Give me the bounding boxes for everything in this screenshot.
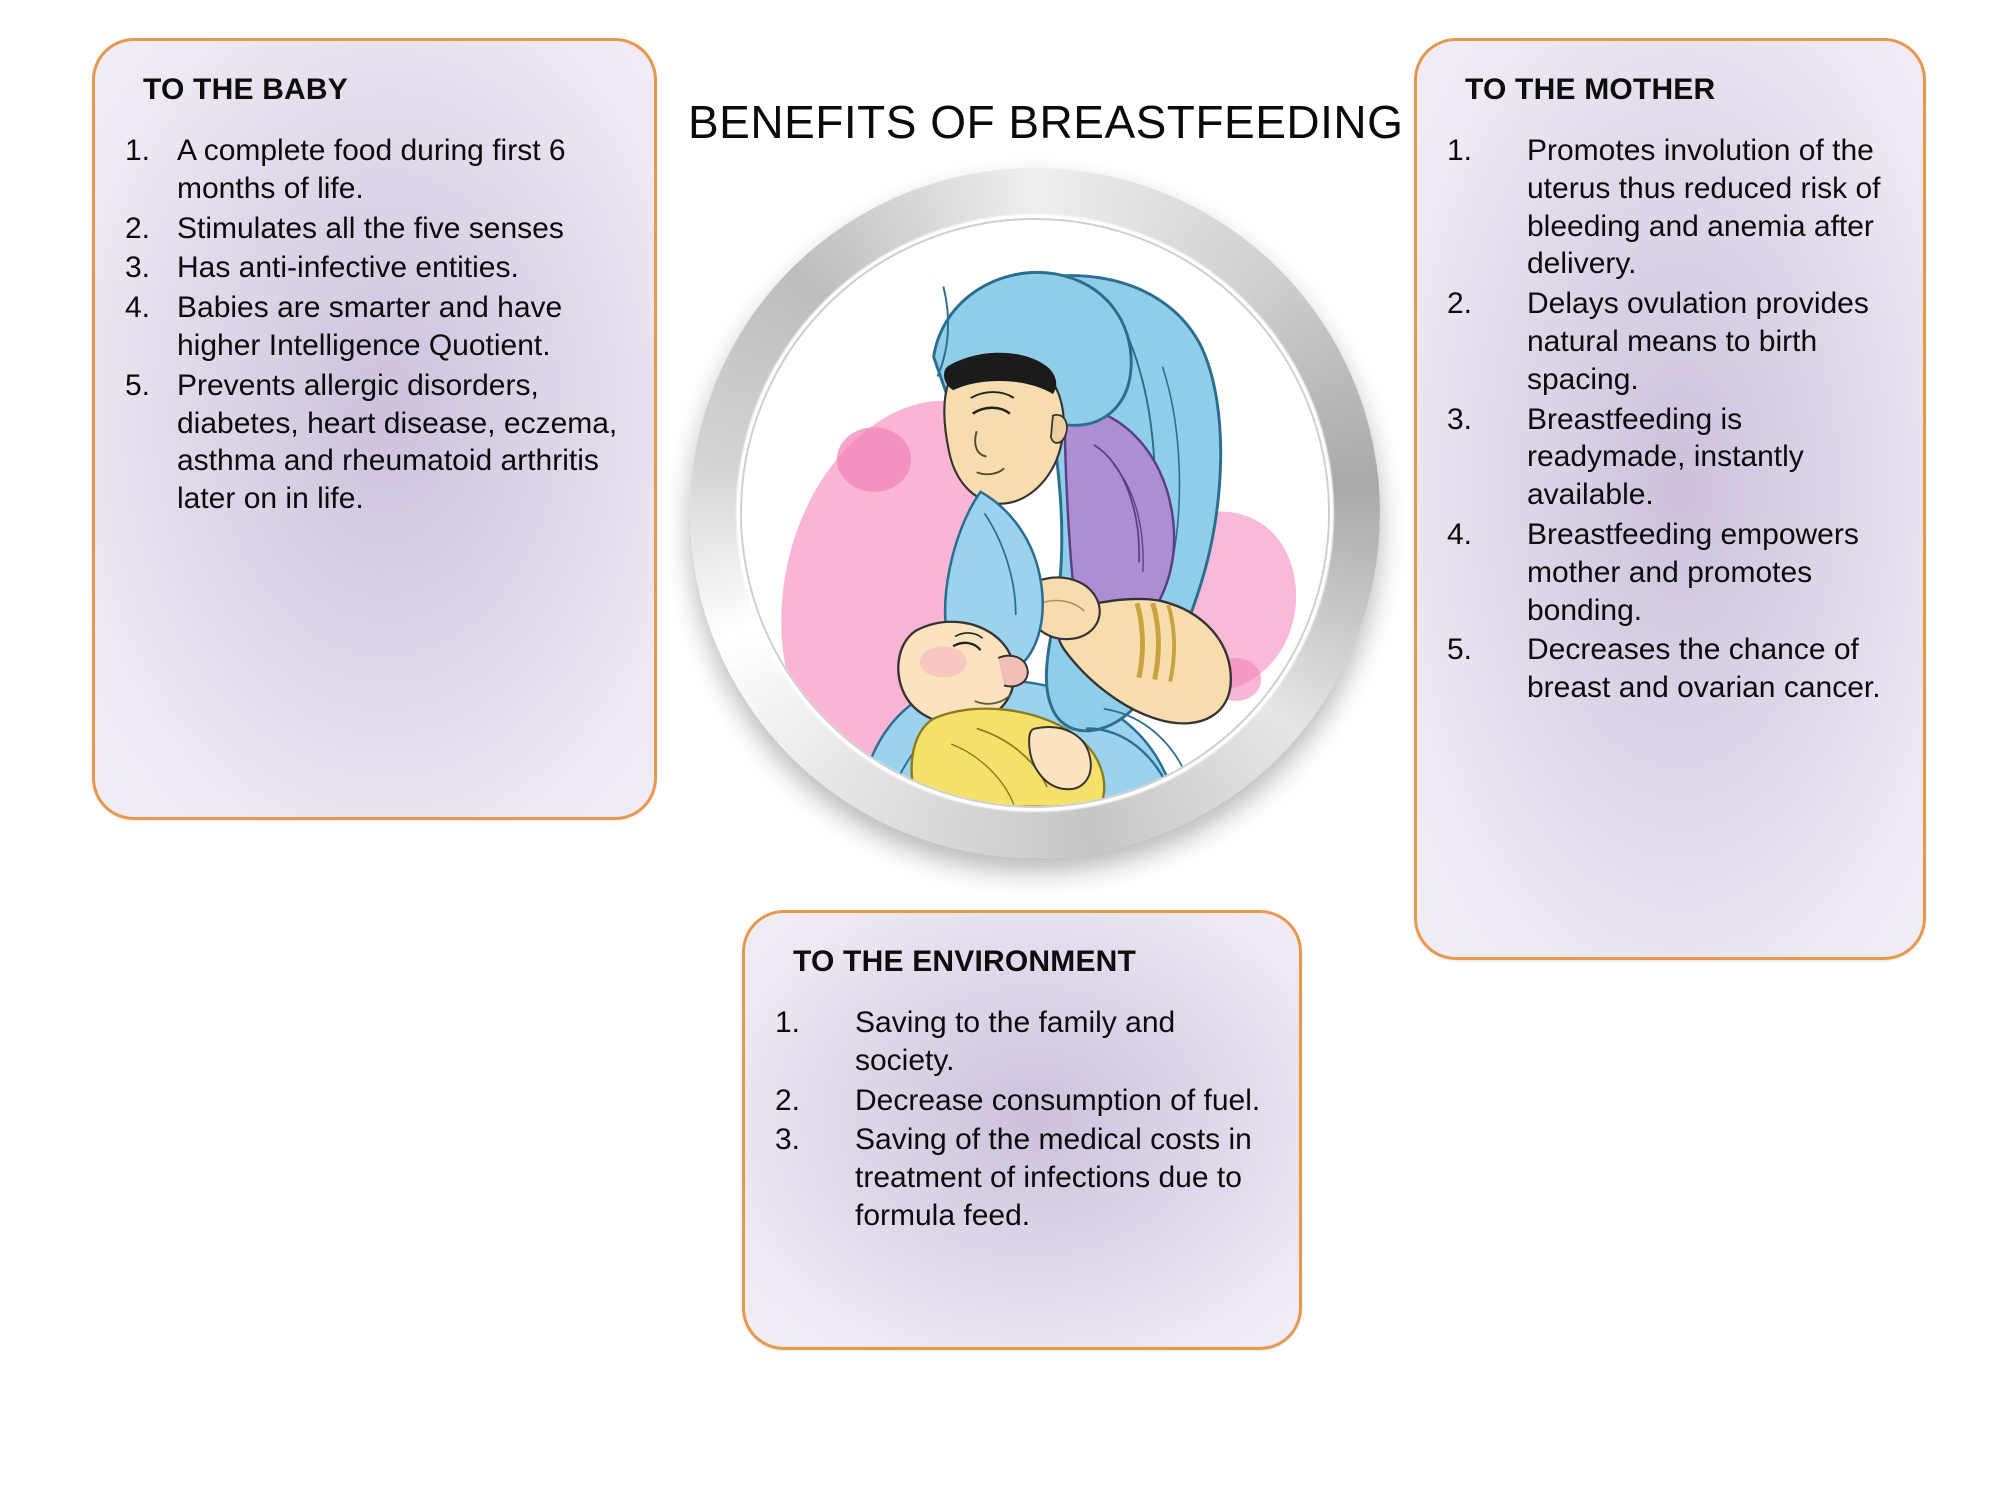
benefit-list-baby: 1. A complete food during first 6 months… [125, 132, 624, 518]
list-item: 4. Breastfeeding empowers mother and pro… [1447, 516, 1893, 629]
list-item-number: 3. [775, 1121, 827, 1159]
box-title-environment: TO THE ENVIRONMENT [793, 945, 1269, 978]
list-item: 5. Decreases the chance of breast and ov… [1447, 631, 1893, 707]
list-item-text: Has anti-infective entities. [177, 249, 624, 287]
mother-baby-artwork [742, 220, 1329, 807]
list-item: 1. Promotes involution of the uterus thu… [1447, 132, 1893, 283]
list-item-text: Promotes involution of the uterus thus r… [1527, 132, 1893, 283]
list-item-text: Delays ovulation provides natural means … [1527, 285, 1893, 398]
list-item-number: 2. [125, 210, 177, 248]
list-item-text: Prevents allergic disorders, diabetes, h… [177, 367, 624, 518]
page-title: BENEFITS OF BREASTFEEDING [688, 95, 1378, 149]
box-title-baby: TO THE BABY [143, 73, 624, 106]
list-item: 1. A complete food during first 6 months… [125, 132, 624, 208]
list-item: 4. Babies are smarter and have higher In… [125, 289, 624, 365]
benefits-box-baby: TO THE BABY 1. A complete food during fi… [92, 38, 657, 820]
benefits-box-environment: TO THE ENVIRONMENT 1. Saving to the fami… [742, 910, 1302, 1350]
list-item-number: 2. [775, 1082, 827, 1120]
box-title-mother: TO THE MOTHER [1465, 73, 1893, 106]
list-item-number: 1. [775, 1004, 827, 1042]
list-item-text: Breastfeeding is readymade, instantly av… [1527, 401, 1893, 514]
list-item-number: 4. [125, 289, 177, 327]
benefit-list-environment: 1. Saving to the family and society. 2. … [775, 1004, 1269, 1235]
list-item-text: Decrease consumption of fuel. [855, 1082, 1269, 1120]
list-item-number: 5. [125, 367, 177, 405]
list-item-number: 4. [1447, 516, 1499, 554]
list-item-text: Babies are smarter and have higher Intel… [177, 289, 624, 365]
list-item: 5. Prevents allergic disorders, diabetes… [125, 367, 624, 518]
list-item-number: 5. [1447, 631, 1499, 669]
list-item-number: 1. [1447, 132, 1499, 170]
list-item: 1. Saving to the family and society. [775, 1004, 1269, 1080]
benefit-list-mother: 1. Promotes involution of the uterus thu… [1447, 132, 1893, 707]
list-item: 2. Stimulates all the five senses [125, 210, 624, 248]
list-item: 2. Delays ovulation provides natural mea… [1447, 285, 1893, 398]
benefits-box-mother: TO THE MOTHER 1. Promotes involution of … [1414, 38, 1926, 960]
list-item-text: Decreases the chance of breast and ovari… [1527, 631, 1893, 707]
list-item-text: Saving of the medical costs in treatment… [855, 1121, 1269, 1234]
breastfeeding-illustration [690, 168, 1380, 858]
list-item-number: 3. [1447, 401, 1499, 439]
list-item-text: Saving to the family and society. [855, 1004, 1269, 1080]
list-item: 3. Saving of the medical costs in treatm… [775, 1121, 1269, 1234]
list-item-text: A complete food during first 6 months of… [177, 132, 624, 208]
illustration-inner-disc [740, 218, 1331, 809]
list-item-text: Stimulates all the five senses [177, 210, 624, 248]
list-item: 3. Has anti-infective entities. [125, 249, 624, 287]
list-item-number: 2. [1447, 285, 1499, 323]
list-item-number: 1. [125, 132, 177, 170]
list-item: 2. Decrease consumption of fuel. [775, 1082, 1269, 1120]
list-item-text: Breastfeeding empowers mother and promot… [1527, 516, 1893, 629]
list-item: 3. Breastfeeding is readymade, instantly… [1447, 401, 1893, 514]
list-item-number: 3. [125, 249, 177, 287]
